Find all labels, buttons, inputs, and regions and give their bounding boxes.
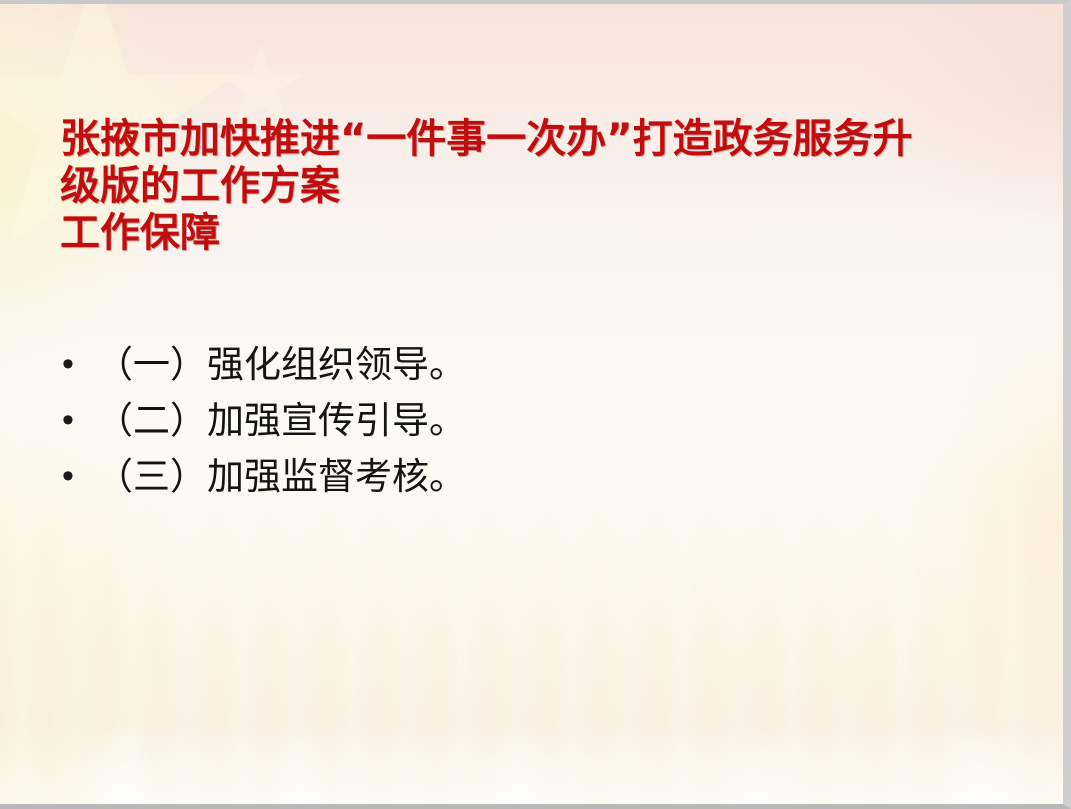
bullet-marker-icon: • <box>62 396 96 444</box>
bullet-text: （二）加强宣传引导。 <box>96 396 466 446</box>
slide-bullet-list: • （一）强化组织领导。 • （二）加强宣传引导。 • （三）加强监督考核。 <box>62 340 962 508</box>
title-line-2: 级版的工作方案 <box>60 163 990 210</box>
bullet-marker-icon: • <box>62 340 96 388</box>
list-item: • （三）加强监督考核。 <box>62 452 962 504</box>
list-item: • （一）强化组织领导。 <box>62 340 962 392</box>
title-line-3: 工作保障 <box>60 210 990 257</box>
slide-title: 张掖市加快推进“一件事一次办”打造政务服务升 级版的工作方案 工作保障 <box>60 116 990 257</box>
bullet-text: （三）加强监督考核。 <box>96 452 466 502</box>
title-line-1: 张掖市加快推进“一件事一次办”打造政务服务升 <box>60 116 990 163</box>
bullet-marker-icon: • <box>62 452 96 500</box>
presentation-slide: 张掖市加快推进“一件事一次办”打造政务服务升 级版的工作方案 工作保障 • （一… <box>0 0 1071 809</box>
list-item: • （二）加强宣传引导。 <box>62 396 962 448</box>
bullet-text: （一）强化组织领导。 <box>96 340 466 390</box>
